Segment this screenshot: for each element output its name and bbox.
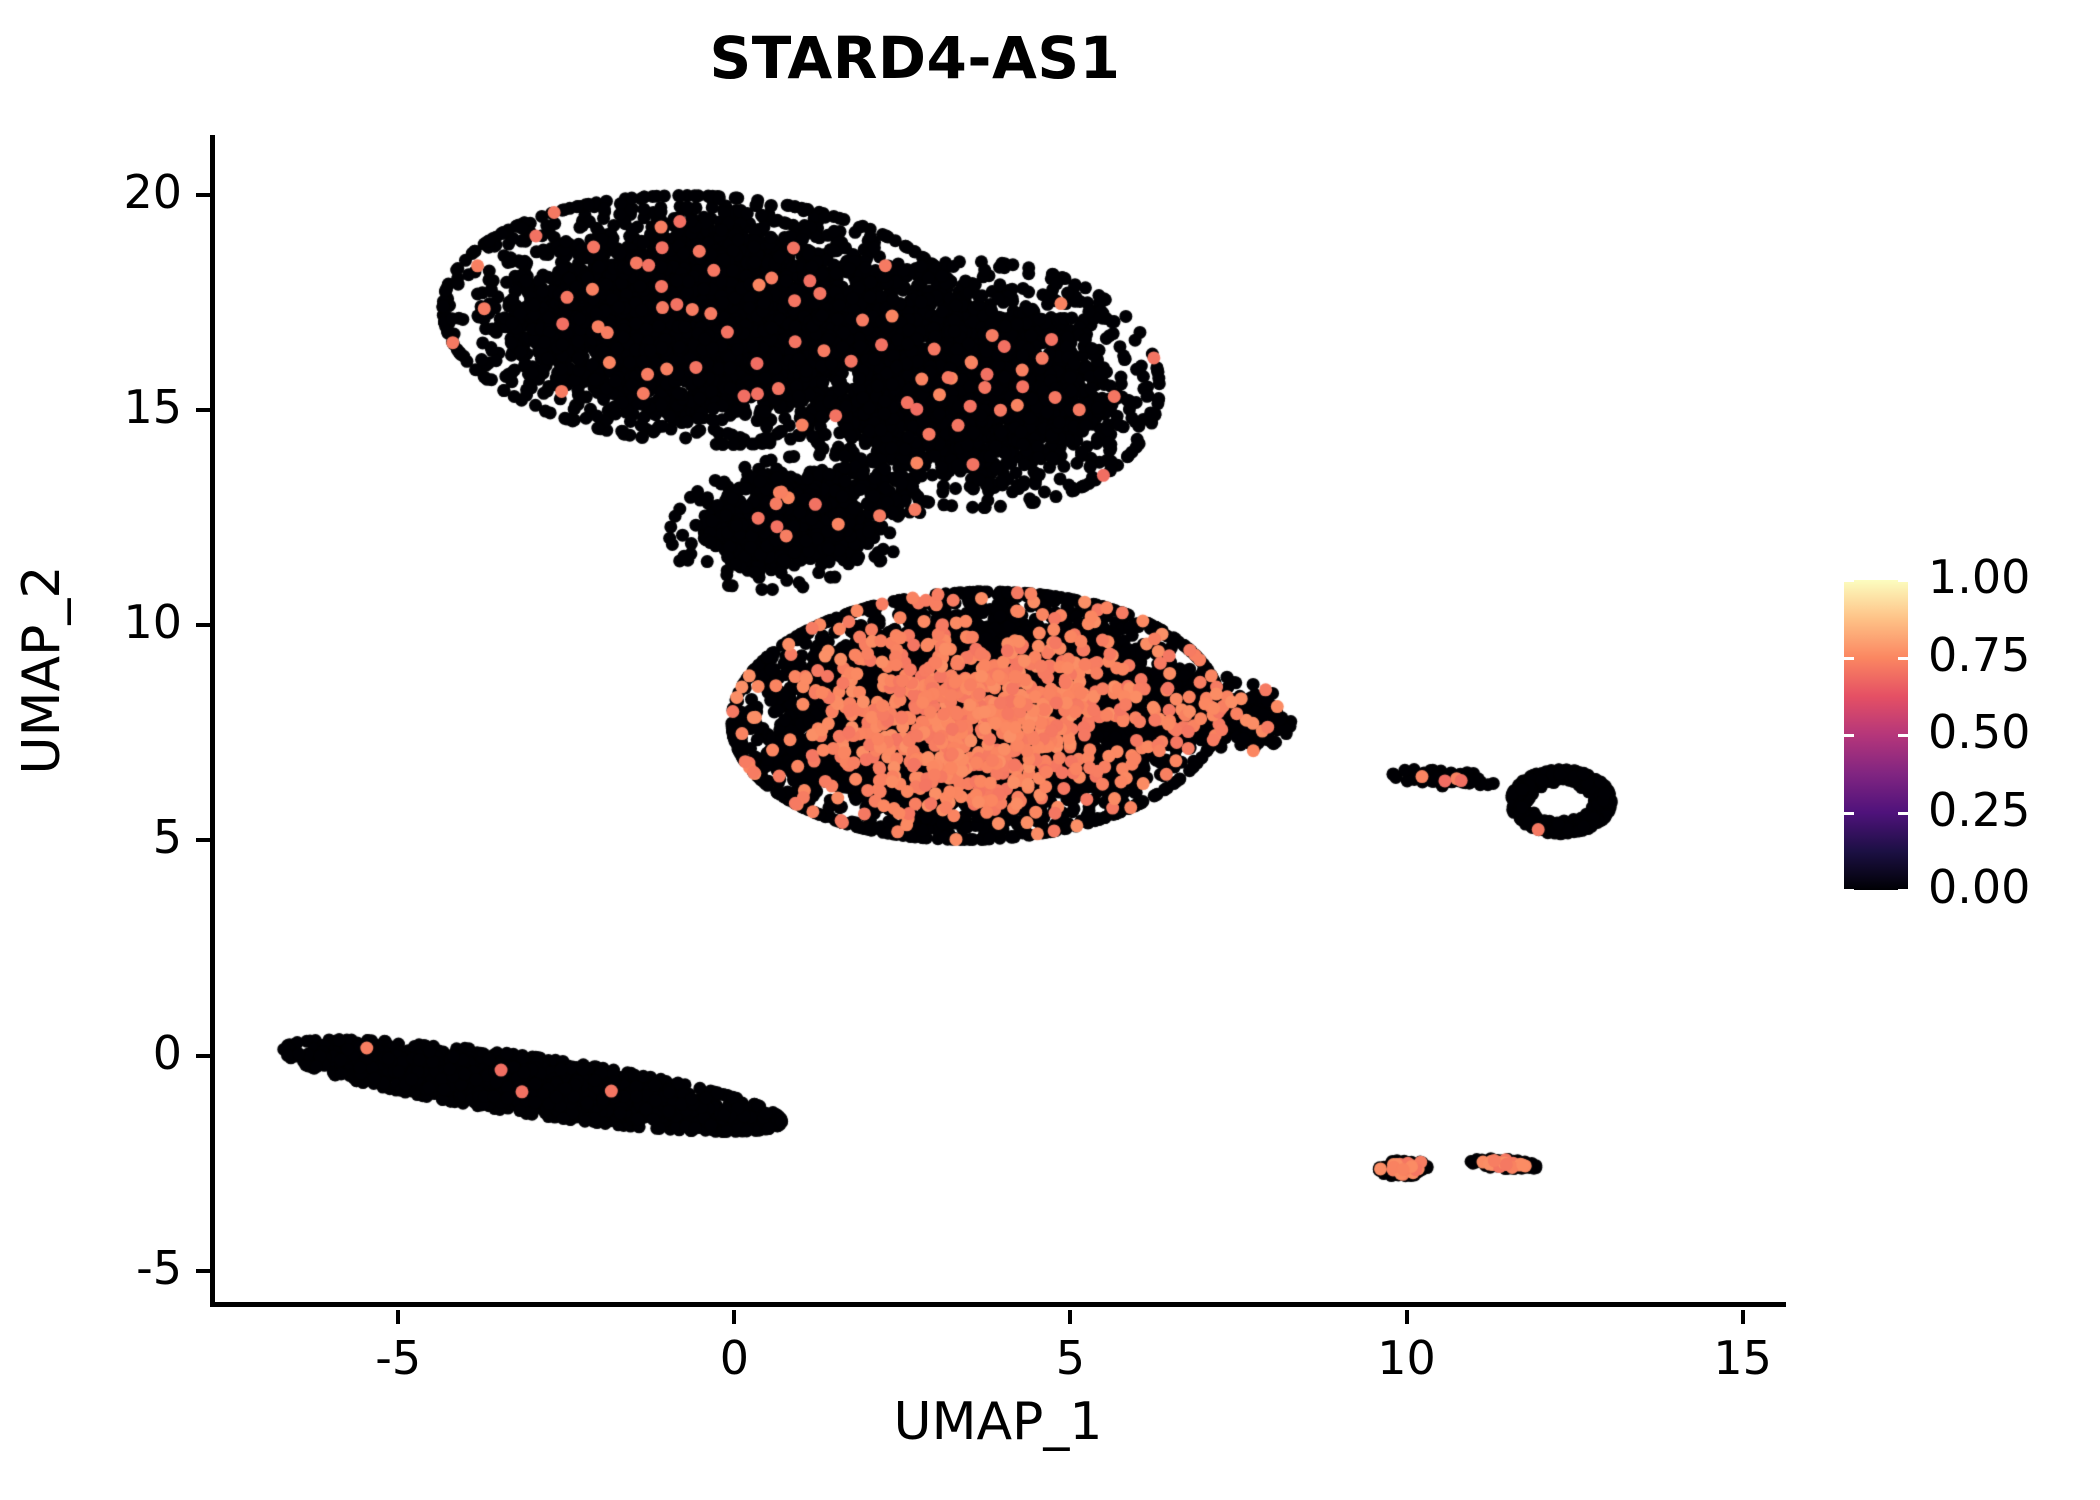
y-tick-mark (196, 408, 210, 412)
x-tick-mark (396, 1310, 400, 1324)
plot-axes-area (210, 135, 1783, 1305)
colorbar-tick-mark (1898, 657, 1908, 660)
x-axis-label: UMAP_1 (210, 1392, 1786, 1452)
x-tick-label: 15 (1633, 1331, 1853, 1385)
umap-feature-plot: STARD4-AS1 -505101520 -5051015 UMAP_1 UM… (0, 0, 2100, 1500)
x-tick-mark (1068, 1310, 1072, 1324)
y-tick-label: 0 (0, 1026, 182, 1080)
x-tick-mark (732, 1310, 736, 1324)
y-tick-mark (196, 1269, 210, 1273)
colorbar-tick-mark (1844, 734, 1854, 737)
y-tick-mark (196, 623, 210, 627)
y-tick-label: 20 (0, 165, 182, 219)
colorbar-tick-mark (1844, 812, 1854, 815)
colorbar-tick-mark (1898, 734, 1908, 737)
colorbar: 1.000.750.500.250.00 (1844, 580, 2094, 892)
x-tick-label: 10 (1297, 1331, 1517, 1385)
colorbar-tick-label: 0.75 (1928, 628, 2030, 682)
x-tick-label: -5 (288, 1331, 508, 1385)
x-axis-spine (210, 1302, 1786, 1307)
y-tick-mark (196, 1054, 210, 1058)
colorbar-tick-label: 1.00 (1928, 550, 2030, 604)
colorbar-tick-label: 0.25 (1928, 783, 2030, 837)
y-tick-mark (196, 193, 210, 197)
x-tick-mark (1741, 1310, 1745, 1324)
colorbar-tick-mark (1844, 657, 1854, 660)
colorbar-tick-mark (1844, 889, 1854, 892)
x-tick-label: 0 (624, 1331, 844, 1385)
colorbar-tick-mark (1898, 579, 1908, 582)
colorbar-tick-mark (1898, 889, 1908, 892)
y-axis-spine (210, 135, 215, 1307)
colorbar-tick-mark (1844, 579, 1854, 582)
y-tick-mark (196, 838, 210, 842)
scatter-canvas (210, 135, 1783, 1305)
x-tick-label: 5 (960, 1331, 1180, 1385)
colorbar-tick-label: 0.50 (1928, 705, 2030, 759)
page-title: STARD4-AS1 (0, 24, 1830, 92)
colorbar-tick-mark (1898, 812, 1908, 815)
colorbar-tick-label: 0.00 (1928, 860, 2030, 914)
y-axis-label: UMAP_2 (12, 350, 72, 990)
y-tick-label: -5 (0, 1241, 182, 1295)
x-tick-mark (1405, 1310, 1409, 1324)
